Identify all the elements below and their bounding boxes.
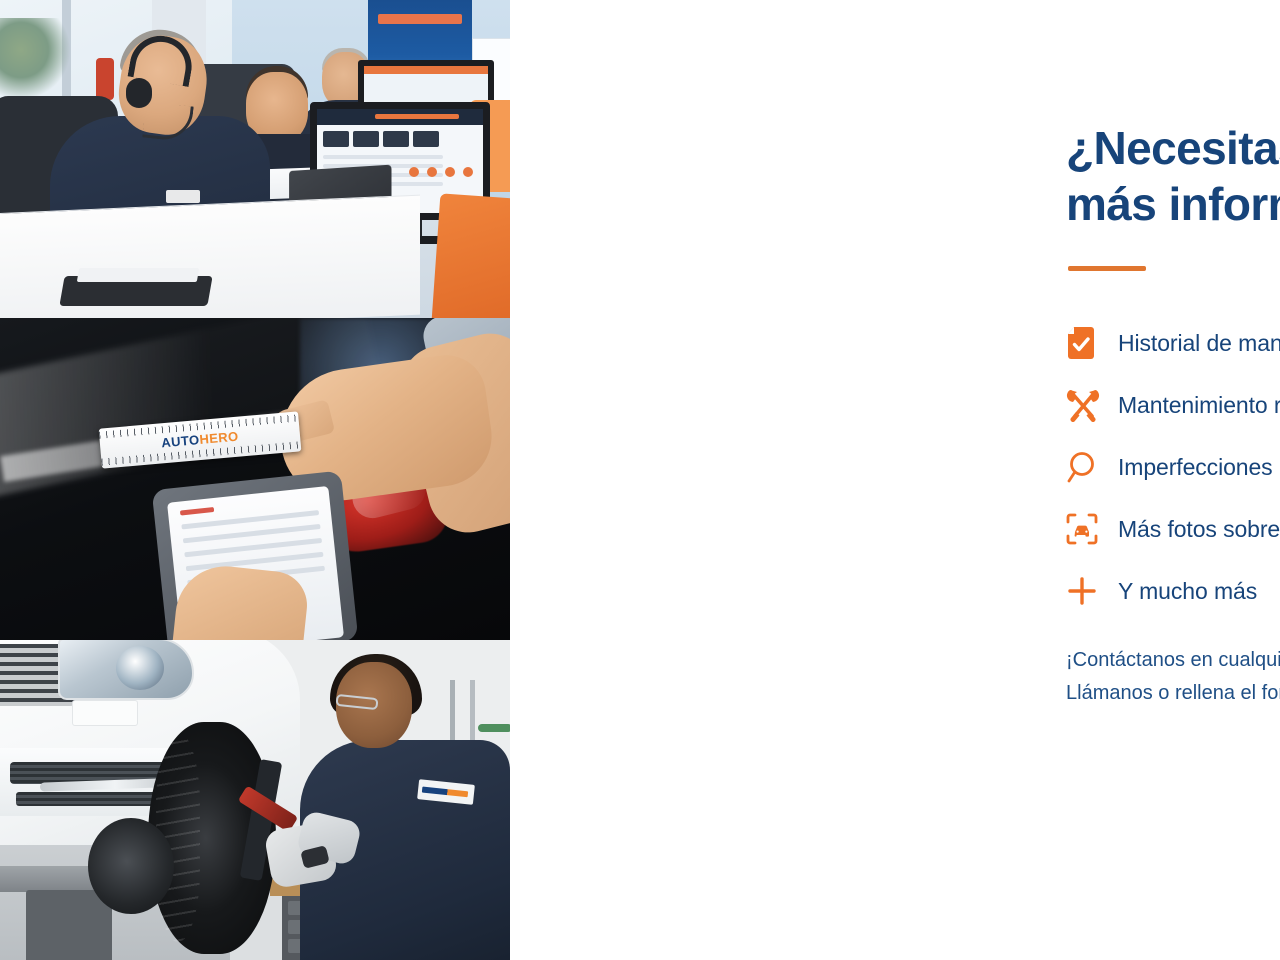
page-title-line-1: ¿Necesitas (1066, 120, 1280, 176)
feature-item-maintenance-history: Historial de mantenimientos (1066, 312, 1280, 374)
magnifier-icon (1066, 451, 1118, 483)
feature-list: Historial de mantenimientos M (1066, 312, 1280, 622)
feature-label: Mantenimiento realizado (1118, 392, 1280, 419)
monitor-icon-row (409, 167, 473, 177)
fire-extinguisher (96, 58, 114, 100)
car-license-plate (72, 700, 138, 726)
wheel-hub (88, 818, 174, 914)
mechanic-wheel-photo (0, 640, 510, 960)
monitor-browser-bar (317, 109, 483, 125)
monitor-car-thumbnails (323, 131, 439, 147)
title-underline-rule (1068, 266, 1146, 271)
feature-item-maintenance-done: Mantenimiento realizado (1066, 374, 1280, 436)
content-panel: ¿Necesitas más información? Estamos enca… (510, 0, 1280, 960)
outdoor-greenery (0, 18, 70, 98)
page-title: ¿Necesitas más información? (1066, 120, 1280, 232)
workshop-green-hose (478, 724, 510, 732)
contact-message: ¡Contáctanos en cualquier momento para m… (1066, 644, 1280, 710)
plus-icon (1066, 575, 1118, 607)
headlight-lens (116, 646, 164, 690)
feature-label: Más fotos sobre el coche (1118, 516, 1280, 543)
tools-wrench-screwdriver-icon (1066, 388, 1118, 422)
feature-label: Imperfecciones (1118, 454, 1273, 481)
car-photo-frame-icon (1066, 513, 1118, 545)
feature-item-more-photos: Más fotos sobre el coche (1066, 498, 1280, 560)
car-inspection-ruler-photo: AUTOHERO (0, 318, 510, 640)
feature-item-much-more: Y mucho más (1066, 560, 1280, 622)
orange-chair-foreground (432, 193, 510, 318)
contact-message-line-2: Llámanos o rellena el formulario de cont… (1066, 677, 1280, 710)
feature-label: Y mucho más (1118, 578, 1257, 605)
promo-page: AUTOHERO (0, 0, 1280, 960)
car-headlight (58, 640, 194, 700)
feature-item-imperfections: Imperfecciones (1066, 436, 1280, 498)
call-center-agents-photo (0, 0, 510, 318)
photo-column: AUTOHERO (0, 0, 510, 960)
clipboard-check-icon (1066, 326, 1118, 360)
contact-message-line-1: ¡Contáctanos en cualquier momento para m… (1066, 644, 1280, 677)
feature-label: Historial de mantenimientos (1118, 330, 1280, 357)
agent-polo-logo (166, 190, 200, 203)
page-title-line-2: más información? (1066, 176, 1280, 232)
desk-notebook (77, 268, 199, 282)
car-lift-post (26, 890, 112, 960)
